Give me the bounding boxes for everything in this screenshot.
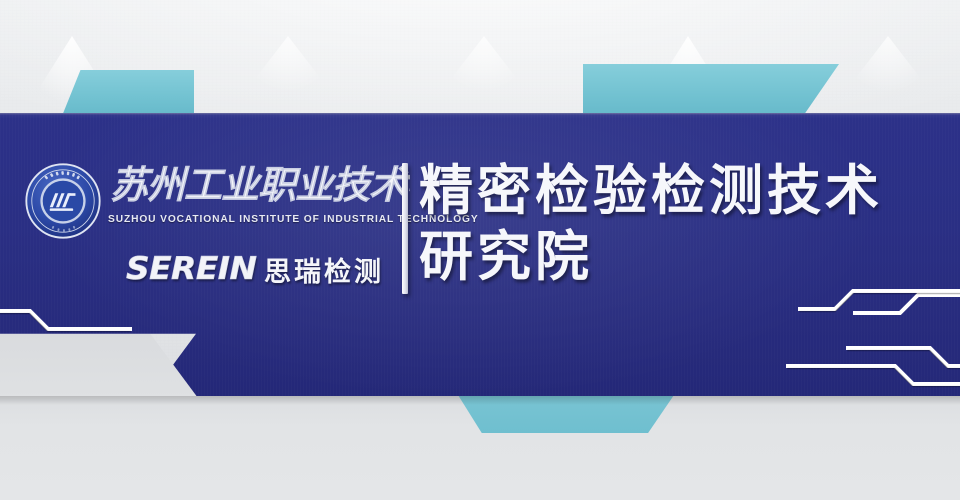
panel-top-highlight	[0, 113, 960, 115]
circuit-trace-right-1	[800, 291, 960, 309]
university-chinese-name-art: 苏州工业职业技术学院	[110, 157, 410, 211]
page-title: 精密检验检测技术 研究院	[419, 158, 944, 290]
teal-tab-top-right	[583, 64, 839, 116]
university-chinese-name: 苏州工业职业技术学院	[110, 157, 410, 211]
teal-tab-top-left	[62, 70, 194, 116]
university-chinese-name-text: 苏州工业职业技术学院	[110, 162, 410, 207]
serein-chinese-wordmark: 思瑞检测	[264, 250, 384, 289]
serein-wordmark: SEREIN	[126, 251, 256, 287]
university-english-name: SUZHOU VOCATIONAL INSTITUTE OF INDUSTRIA…	[108, 214, 412, 225]
page-title-line-2: 研究院	[419, 224, 944, 290]
signage-scene: 苏州工业职业技术学院 SUZHOU VOCATIONAL INSTITUTE O…	[0, 0, 960, 500]
circuit-trace-right-4	[788, 366, 960, 384]
partner-logo-lockup: SEREIN 思瑞检测	[126, 247, 394, 291]
vertical-divider	[402, 163, 408, 294]
page-title-line-1: 精密检验检测技术	[419, 158, 944, 224]
circuit-trace-left-1	[0, 311, 130, 329]
teal-tab-bottom-center	[458, 395, 674, 433]
circuit-trace-right-2	[855, 295, 960, 313]
circuit-trace-right-3	[848, 348, 960, 366]
university-emblem-icon	[24, 162, 102, 240]
university-logo-lockup: 苏州工业职业技术学院 SUZHOU VOCATIONAL INSTITUTE O…	[18, 155, 393, 300]
